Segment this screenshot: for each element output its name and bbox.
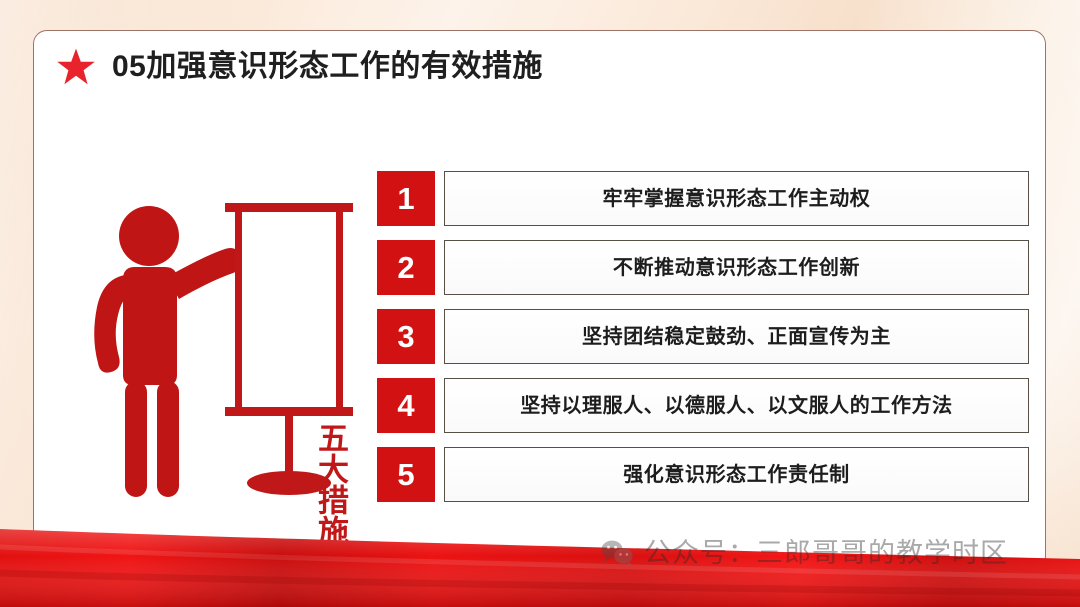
measure-number-badge: 5	[377, 447, 435, 502]
measure-label: 强化意识形态工作责任制	[623, 465, 850, 485]
measure-number-badge: 4	[377, 378, 435, 433]
banner-vertical-label: 五大措施	[306, 409, 346, 559]
page-title-text: 05加强意识形态工作的有效措施	[112, 52, 543, 82]
measure-number-badge: 2	[377, 240, 435, 295]
red-star-icon	[56, 47, 96, 87]
measure-text-box[interactable]: 坚持以理服人、以德服人、以文服人的工作方法	[444, 378, 1029, 433]
illustration: 五大措施	[79, 191, 369, 521]
measure-text-box[interactable]: 牢牢掌握意识形态工作主动权	[444, 171, 1029, 226]
table-row[interactable]: 5 强化意识形态工作责任制	[377, 447, 1029, 502]
measure-text-box[interactable]: 不断推动意识形态工作创新	[444, 240, 1029, 295]
table-row[interactable]: 1 牢牢掌握意识形态工作主动权	[377, 171, 1029, 226]
measure-number-badge: 3	[377, 309, 435, 364]
page-title: 05加强意识形态工作的有效措施	[56, 47, 543, 87]
table-row[interactable]: 4 坚持以理服人、以德服人、以文服人的工作方法	[377, 378, 1029, 433]
measure-label: 牢牢掌握意识形态工作主动权	[603, 189, 871, 209]
measures-list: 1 牢牢掌握意识形态工作主动权 2 不断推动意识形态工作创新 3 坚持团结稳定鼓…	[377, 171, 1029, 502]
measure-text-box[interactable]: 强化意识形态工作责任制	[444, 447, 1029, 502]
measure-label: 不断推动意识形态工作创新	[613, 258, 860, 278]
measure-label: 坚持以理服人、以德服人、以文服人的工作方法	[520, 396, 953, 416]
measure-number-badge: 1	[377, 171, 435, 226]
table-row[interactable]: 2 不断推动意识形态工作创新	[377, 240, 1029, 295]
content-card: 05加强意识形态工作的有效措施	[33, 30, 1046, 570]
measure-label: 坚持团结稳定鼓劲、正面宣传为主	[582, 327, 891, 347]
slide-canvas: 05加强意识形态工作的有效措施	[0, 0, 1080, 607]
table-row[interactable]: 3 坚持团结稳定鼓劲、正面宣传为主	[377, 309, 1029, 364]
measure-text-box[interactable]: 坚持团结稳定鼓劲、正面宣传为主	[444, 309, 1029, 364]
